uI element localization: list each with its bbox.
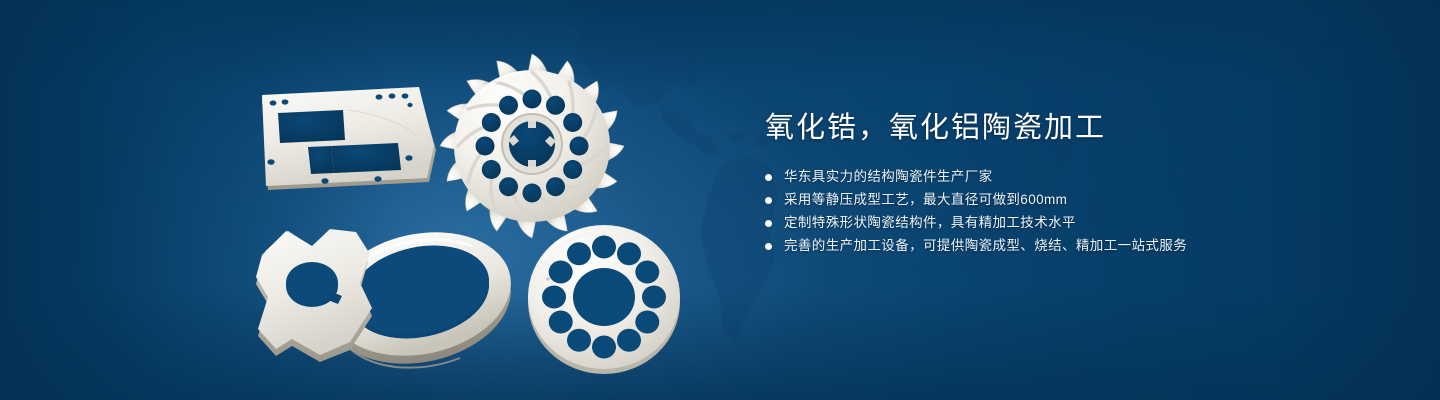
feature-text: 定制特殊形状陶瓷结构件，具有精加工技术水平	[784, 212, 1076, 234]
bullet-dot-icon	[765, 197, 772, 204]
product-ceramic-impeller	[440, 54, 624, 238]
product-ceramic-cross	[256, 229, 372, 362]
bullet-dot-icon	[765, 220, 772, 227]
hero-banner: 氧化锆，氧化铝陶瓷加工 华东具实力的结构陶瓷件生产厂家 采用等静压成型工艺，最大…	[0, 0, 1440, 400]
feature-text: 完善的生产加工设备，可提供陶瓷成型、烧结、精加工一站式服务	[784, 235, 1187, 257]
banner-feature-list: 华东具实力的结构陶瓷件生产厂家 采用等静压成型工艺，最大直径可做到600mm 定…	[765, 166, 1365, 257]
feature-text: 华东具实力的结构陶瓷件生产厂家	[784, 166, 993, 188]
list-item: 采用等静压成型工艺，最大直径可做到600mm	[765, 189, 1365, 211]
list-item: 华东具实力的结构陶瓷件生产厂家	[765, 166, 1365, 188]
list-item: 完善的生产加工设备，可提供陶瓷成型、烧结、精加工一站式服务	[765, 235, 1365, 257]
list-item: 定制特殊形状陶瓷结构件，具有精加工技术水平	[765, 212, 1365, 234]
ceramic-products-image	[0, 0, 760, 400]
product-ceramic-plate	[262, 87, 436, 190]
banner-copy: 氧化锆，氧化铝陶瓷加工 华东具实力的结构陶瓷件生产厂家 采用等静压成型工艺，最大…	[765, 108, 1365, 258]
bullet-dot-icon	[765, 243, 772, 250]
product-ceramic-perforated-disc	[528, 225, 680, 374]
banner-headline: 氧化锆，氧化铝陶瓷加工	[765, 108, 1365, 148]
feature-text: 采用等静压成型工艺，最大直径可做到600mm	[784, 189, 1067, 211]
bullet-dot-icon	[765, 174, 772, 181]
